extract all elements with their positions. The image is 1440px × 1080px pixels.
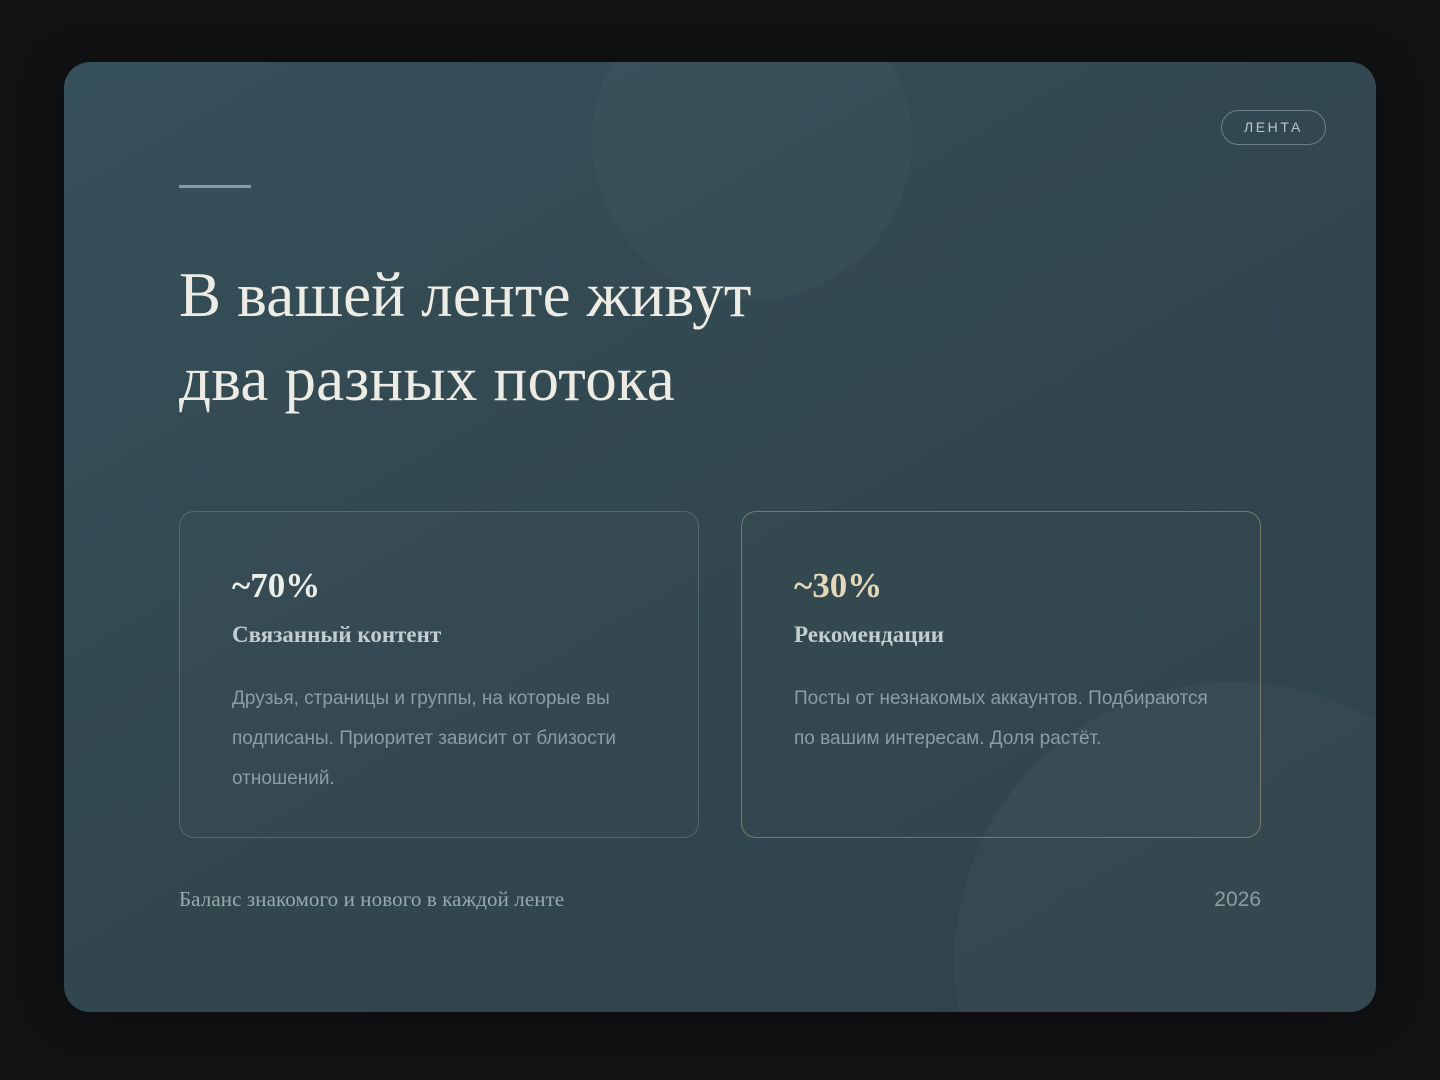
stat-description: Друзья, страницы и группы, на которые вы… <box>232 679 650 799</box>
stat-value: ~30% <box>794 568 1212 603</box>
footer-note: Баланс знакомого и нового в каждой ленте <box>179 887 564 912</box>
slide-stage: ЛЕНТА В вашей ленте живут два разных пот… <box>0 0 1440 1080</box>
headline-line-1: В вашей ленте живут <box>179 260 752 330</box>
page-title: В вашей ленте живут два разных потока <box>179 254 959 422</box>
accent-rule <box>179 185 251 188</box>
footer-year: 2026 <box>1214 888 1261 912</box>
stat-value: ~70% <box>232 568 650 603</box>
stat-card-connected[interactable]: ~70% Связанный контент Друзья, страницы … <box>179 511 699 838</box>
stat-title: Рекомендации <box>794 623 1212 646</box>
stat-description: Посты от незнакомых аккаунтов. Подбирают… <box>794 679 1212 759</box>
slide-content: В вашей ленте живут два разных потока ~7… <box>179 62 1261 1012</box>
slide-footer: Баланс знакомого и нового в каждой ленте… <box>179 887 1261 912</box>
slide-card: ЛЕНТА В вашей ленте живут два разных пот… <box>64 62 1376 1012</box>
stat-card-recommendations[interactable]: ~30% Рекомендации Посты от незнакомых ак… <box>741 511 1261 838</box>
stat-title: Связанный контент <box>232 623 650 646</box>
headline-line-2: два разных потока <box>179 338 959 422</box>
stat-card-list: ~70% Связанный контент Друзья, страницы … <box>179 511 1261 838</box>
